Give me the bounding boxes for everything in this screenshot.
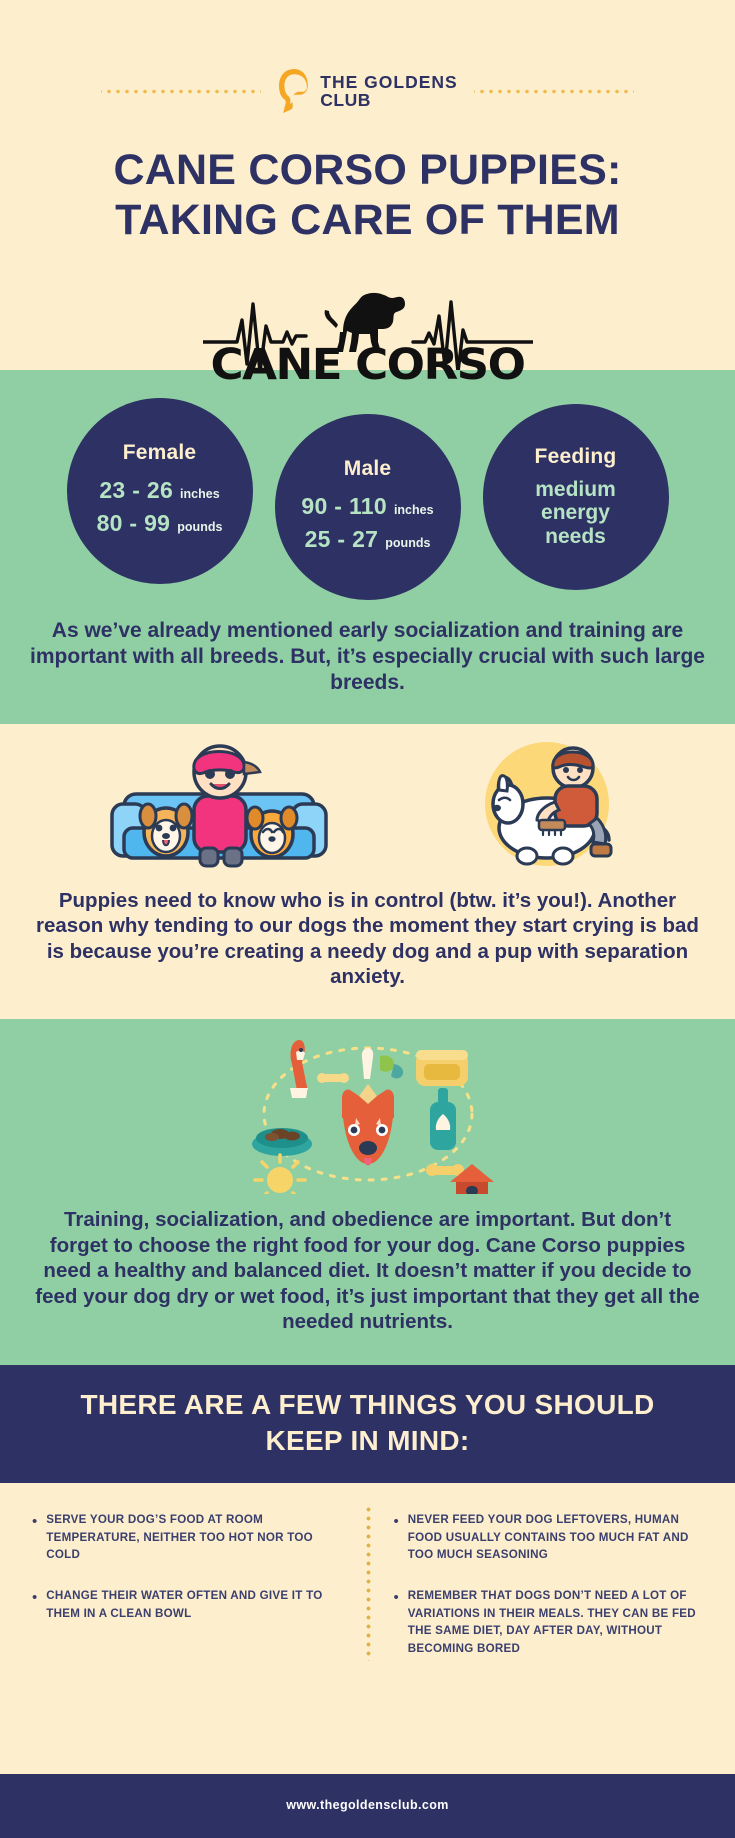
- list-item-text: CHANGE THEIR WATER OFTEN AND GIVE IT TO …: [46, 1587, 345, 1622]
- paragraph-control: Puppies need to know who is in control (…: [0, 884, 735, 1010]
- bullet-icon: •: [394, 1587, 399, 1657]
- header: THE GOLDENS CLUB CANE CORSO PUPPIES: TAK…: [0, 0, 735, 252]
- stat-row: 90 - 110 inches: [301, 493, 433, 520]
- logo-line-1: THE GOLDENS: [320, 73, 457, 91]
- stat-value: 90 - 110: [301, 493, 387, 520]
- list-item: • CHANGE THEIR WATER OFTEN AND GIVE IT T…: [32, 1587, 346, 1622]
- control-section: Puppies need to know who is in control (…: [0, 724, 735, 1020]
- logo-line-2: CLUB: [320, 91, 457, 109]
- stat-unit: inches: [180, 487, 220, 501]
- footer-url[interactable]: www.thegoldensclub.com: [0, 1774, 735, 1838]
- breed-name: CANE CORSO: [0, 340, 735, 390]
- nutrition-section: Training, socialization, and obedience a…: [0, 1019, 735, 1364]
- stat-row: 80 - 99 pounds: [97, 510, 223, 537]
- column-divider: [366, 1505, 371, 1661]
- stats-section: CANE CORSO Female 23 - 26 inches 80 - 99…: [0, 370, 735, 724]
- tips-list: • SERVE YOUR DOG’S FOOD AT ROOM TEMPERAT…: [0, 1483, 735, 1683]
- paragraph-nutrition: Training, socialization, and obedience a…: [0, 1197, 735, 1356]
- stat-row: 23 - 26 inches: [99, 477, 219, 504]
- stat-value: 80 - 99: [97, 510, 171, 537]
- stat-title: Male: [344, 457, 392, 481]
- dog-head-icon: [277, 68, 311, 114]
- tips-heading: THERE ARE A FEW THINGS YOU SHOULD KEEP I…: [0, 1365, 735, 1484]
- dotted-rule-left: [101, 89, 261, 94]
- boy-on-couch-with-two-dogs-illustration: [94, 732, 344, 882]
- stat-value: medium energy needs: [535, 478, 616, 549]
- stat-title: Female: [123, 441, 197, 465]
- list-item: • SERVE YOUR DOG’S FOOD AT ROOM TEMPERAT…: [32, 1511, 346, 1563]
- list-item: • NEVER FEED YOUR DOG LEFTOVERS, HUMAN F…: [394, 1511, 704, 1563]
- paragraph-socialization: As we’ve already mentioned early sociali…: [0, 600, 735, 718]
- illustration-row: [0, 724, 735, 884]
- stat-circle-female: Female 23 - 26 inches 80 - 99 pounds: [67, 398, 253, 584]
- tips-column-right: • NEVER FEED YOUR DOG LEFTOVERS, HUMAN F…: [368, 1511, 718, 1657]
- stats-circles: Female 23 - 26 inches 80 - 99 pounds Mal…: [0, 370, 735, 600]
- brand-logo[interactable]: THE GOLDENS CLUB: [277, 68, 457, 114]
- child-brushing-white-dog-illustration: [451, 732, 641, 882]
- logo-wordmark: THE GOLDENS CLUB: [320, 73, 457, 110]
- stat-unit: pounds: [177, 520, 222, 534]
- list-item: • REMEMBER THAT DOGS DON’T NEED A LOT OF…: [394, 1587, 704, 1657]
- page-title: CANE CORSO PUPPIES: TAKING CARE OF THEM: [0, 120, 735, 246]
- bullet-icon: •: [394, 1511, 399, 1563]
- stat-row: 25 - 27 pounds: [305, 526, 431, 553]
- dotted-rule-right: [474, 89, 634, 94]
- food-illustration-wrap: [0, 1019, 735, 1197]
- bullet-icon: •: [32, 1511, 37, 1563]
- stat-value: 25 - 27: [305, 526, 379, 553]
- logo-row: THE GOLDENS CLUB: [0, 62, 735, 120]
- stat-value: 23 - 26: [99, 477, 173, 504]
- stat-circle-feeding: Feeding medium energy needs: [483, 404, 669, 590]
- stat-title: Feeding: [535, 445, 617, 469]
- list-item-text: SERVE YOUR DOG’S FOOD AT ROOM TEMPERATUR…: [46, 1511, 345, 1563]
- dog-with-food-supplies-illustration: [218, 1022, 518, 1194]
- stat-unit: pounds: [385, 536, 430, 550]
- infographic-page: THE GOLDENS CLUB CANE CORSO PUPPIES: TAK…: [0, 0, 735, 1838]
- list-item-text: NEVER FEED YOUR DOG LEFTOVERS, HUMAN FOO…: [408, 1511, 703, 1563]
- stat-unit: inches: [394, 503, 434, 517]
- list-item-text: REMEMBER THAT DOGS DON’T NEED A LOT OF V…: [408, 1587, 703, 1657]
- tips-column-left: • SERVE YOUR DOG’S FOOD AT ROOM TEMPERAT…: [18, 1511, 368, 1657]
- stat-circle-male: Male 90 - 110 inches 25 - 27 pounds: [275, 414, 461, 600]
- bullet-icon: •: [32, 1587, 37, 1622]
